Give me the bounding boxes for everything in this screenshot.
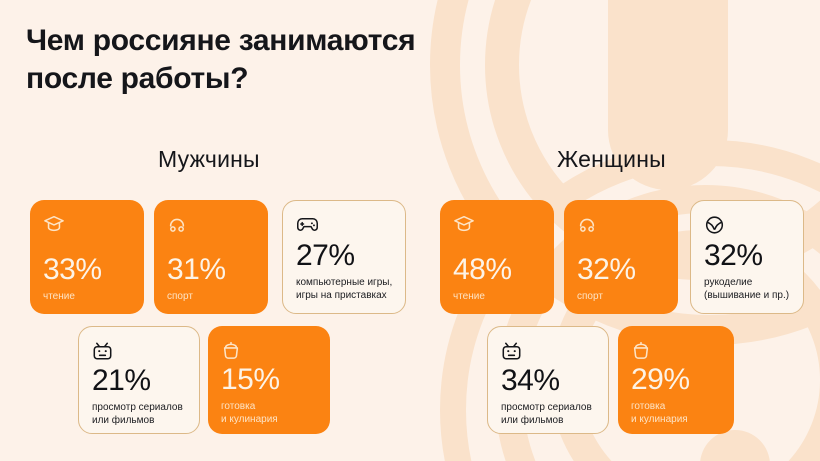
stat-value: 29%: [631, 365, 722, 395]
cooking-pot-icon: [631, 340, 722, 361]
page-title-line-1: Чем россияне занимаются: [26, 22, 546, 60]
infographic-root: Чем россияне занимаются после работы? Му…: [0, 0, 820, 461]
graduation-cap-icon: [453, 214, 542, 238]
stat-label: готовка и кулинария: [221, 401, 318, 427]
stat-card-men-series: 21% просмотр сериалов или фильмов: [78, 326, 200, 434]
stat-label-line-1: просмотр сериалов: [501, 402, 592, 413]
stat-label: спорт: [167, 291, 256, 304]
yarn-ball-icon: [704, 215, 791, 237]
stat-value: 32%: [704, 241, 791, 271]
stat-card-women-series: 34% просмотр сериалов или фильмов: [487, 326, 609, 434]
stat-card-men-videogames: 27% компьютерные игры, игры на приставка…: [282, 200, 406, 314]
stat-label-line-2: и кулинария: [221, 414, 278, 425]
stat-label: спорт: [577, 291, 666, 304]
graduation-cap-icon: [43, 214, 132, 238]
stat-card-women-sport: 32% спорт: [564, 200, 678, 314]
stat-value: 33%: [43, 255, 132, 285]
stat-label-line-1: просмотр сериалов: [92, 402, 183, 413]
stat-card-women-reading: 48% чтение: [440, 200, 554, 314]
stat-card-men-reading: 33% чтение: [30, 200, 144, 314]
stat-value: 32%: [577, 255, 666, 285]
stat-label: просмотр сериалов или фильмов: [501, 402, 596, 428]
stat-label: просмотр сериалов или фильмов: [92, 402, 187, 428]
stat-label-line-2: и кулинария: [631, 414, 688, 425]
stat-value: 15%: [221, 365, 318, 395]
stat-card-men-cooking: 15% готовка и кулинария: [208, 326, 330, 434]
decorative-blob: [700, 430, 770, 461]
stat-label-line-2: игры на приставках: [296, 290, 387, 301]
stat-card-women-cooking: 29% готовка и кулинария: [618, 326, 734, 434]
stat-label-line-1: рукоделие: [704, 277, 752, 288]
stat-label: чтение: [43, 291, 132, 304]
stat-value: 31%: [167, 255, 256, 285]
stat-label-line-2: (вышивание и пр.): [704, 290, 789, 301]
gamepad-icon: [296, 215, 393, 237]
whistle-icon: [167, 214, 256, 238]
stat-card-men-sport: 31% спорт: [154, 200, 268, 314]
stat-label: компьютерные игры, игры на приставках: [296, 277, 393, 303]
stat-label: рукоделие (вышивание и пр.): [704, 277, 791, 303]
television-icon: [92, 341, 187, 362]
stat-value: 21%: [92, 366, 187, 396]
stat-label: готовка и кулинария: [631, 401, 722, 427]
column-heading-men: Мужчины: [158, 146, 260, 173]
stat-label-line-2: или фильмов: [92, 415, 154, 426]
stat-label-line-2: или фильмов: [501, 415, 563, 426]
column-heading-women: Женщины: [557, 146, 666, 173]
stat-value: 48%: [453, 255, 542, 285]
page-title-line-2: после работы?: [26, 60, 546, 98]
stat-label: чтение: [453, 291, 542, 304]
stat-value: 34%: [501, 366, 596, 396]
stat-label-line-1: компьютерные игры,: [296, 277, 392, 288]
cooking-pot-icon: [221, 340, 318, 361]
television-icon: [501, 341, 596, 362]
stat-label-line-1: готовка: [631, 401, 665, 412]
stat-value: 27%: [296, 241, 393, 271]
page-title: Чем россияне занимаются после работы?: [26, 22, 546, 99]
stat-card-women-needlework: 32% рукоделие (вышивание и пр.): [690, 200, 804, 314]
whistle-icon: [577, 214, 666, 238]
stat-label-line-1: готовка: [221, 401, 255, 412]
